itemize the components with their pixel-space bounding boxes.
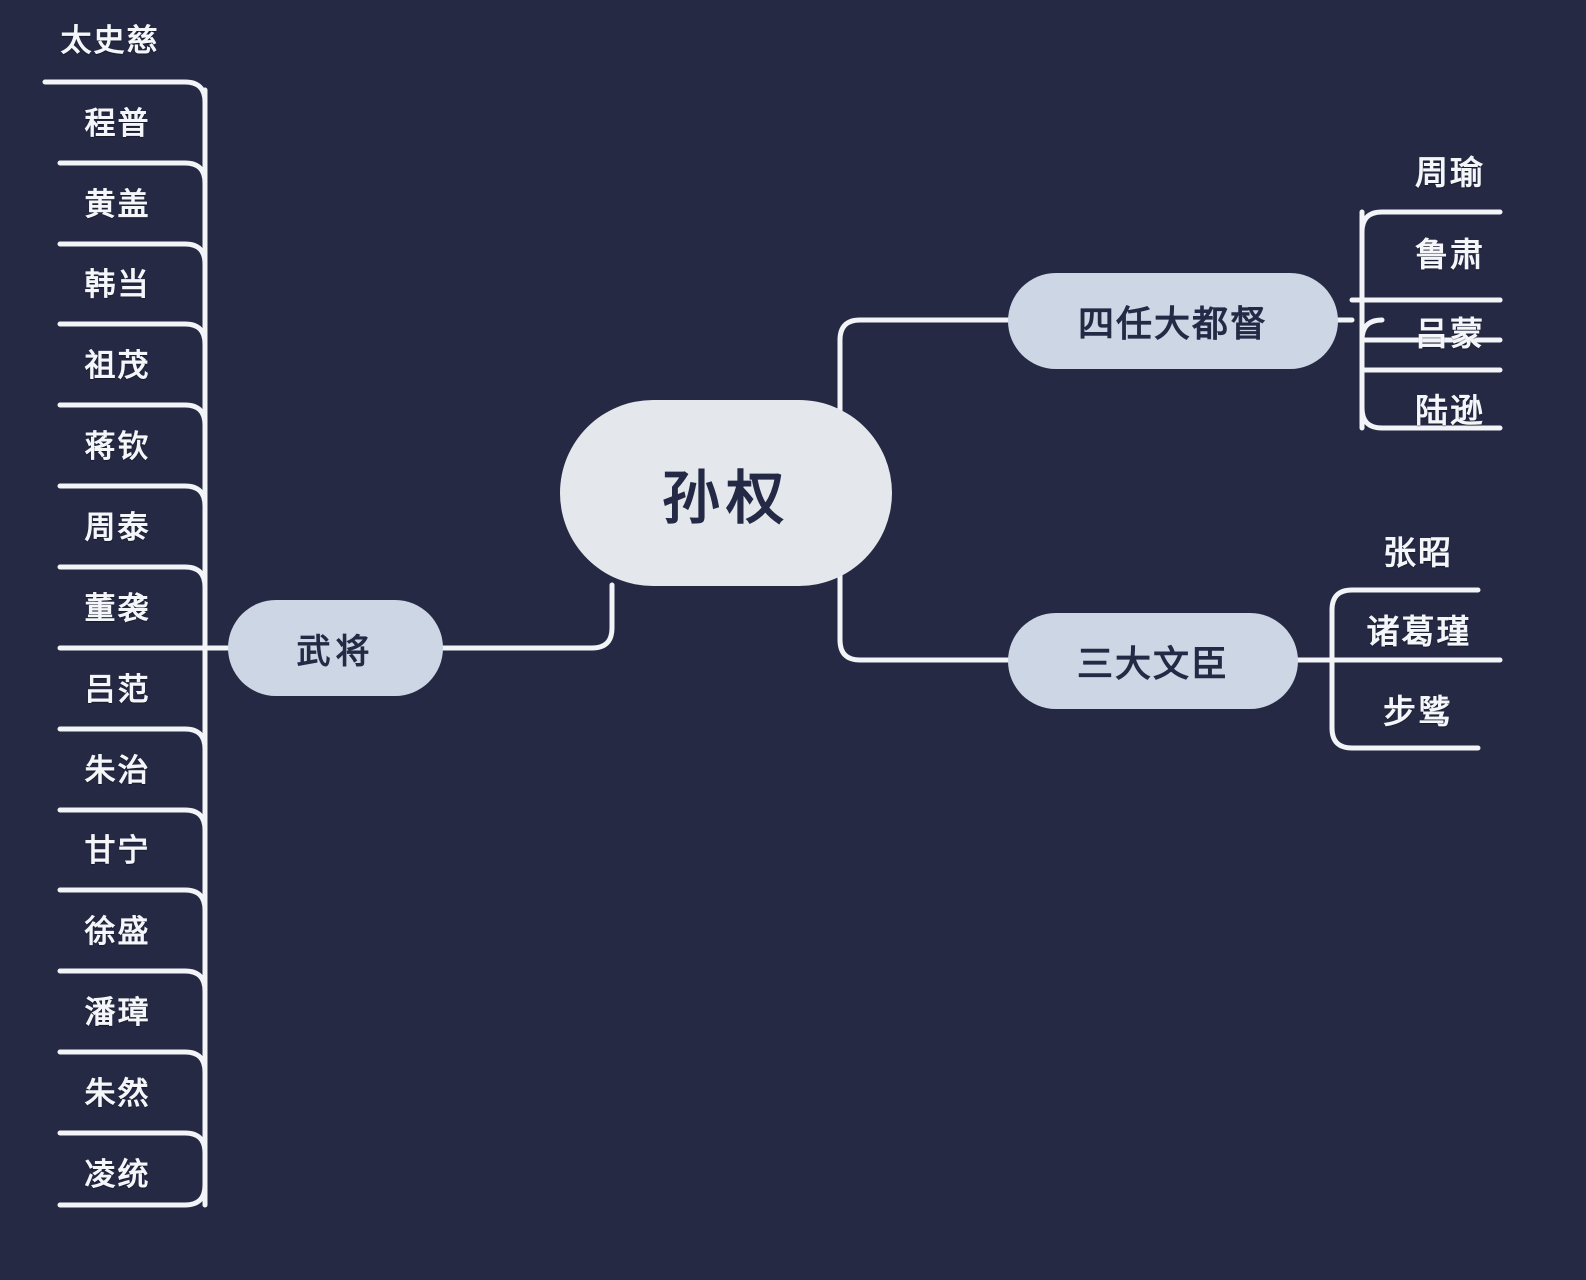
- list-item[interactable]: 吕蒙: [1395, 307, 1505, 355]
- mindmap-canvas: 太史慈 程普 黄盖 韩当 祖茂 蒋钦 周泰 董袭 吕范 朱治 甘宁 徐盛 潘璋 …: [0, 0, 1586, 1280]
- branch-node-generals[interactable]: 武将: [228, 600, 443, 696]
- list-item[interactable]: 甘宁: [60, 825, 175, 870]
- list-item[interactable]: 凌统: [60, 1149, 175, 1194]
- root-node[interactable]: 孙权: [560, 400, 892, 586]
- list-item[interactable]: 韩当: [60, 259, 175, 304]
- list-item[interactable]: 鲁肃: [1395, 228, 1505, 276]
- list-item[interactable]: 周泰: [60, 502, 175, 547]
- list-item[interactable]: 潘璋: [60, 987, 175, 1032]
- list-item[interactable]: 朱治: [60, 745, 175, 790]
- branch-node-ministers[interactable]: 三大文臣: [1008, 613, 1298, 709]
- list-item[interactable]: 徐盛: [60, 906, 175, 951]
- list-item[interactable]: 诸葛瑾: [1345, 605, 1493, 653]
- list-item[interactable]: 周瑜: [1395, 146, 1505, 194]
- branch-node-commanders[interactable]: 四任大都督: [1008, 273, 1338, 369]
- list-item[interactable]: 步骘: [1363, 685, 1473, 733]
- list-item[interactable]: 祖茂: [60, 340, 175, 385]
- list-item[interactable]: 程普: [60, 98, 175, 143]
- list-item[interactable]: 张昭: [1363, 526, 1473, 574]
- list-item[interactable]: 黄盖: [60, 179, 175, 224]
- list-item[interactable]: 蒋钦: [60, 421, 175, 466]
- list-item[interactable]: 朱然: [60, 1068, 175, 1113]
- list-item[interactable]: 陆逊: [1395, 384, 1505, 432]
- list-item[interactable]: 吕范: [60, 664, 175, 709]
- list-item[interactable]: 太史慈: [45, 15, 175, 60]
- list-item[interactable]: 董袭: [60, 583, 175, 628]
